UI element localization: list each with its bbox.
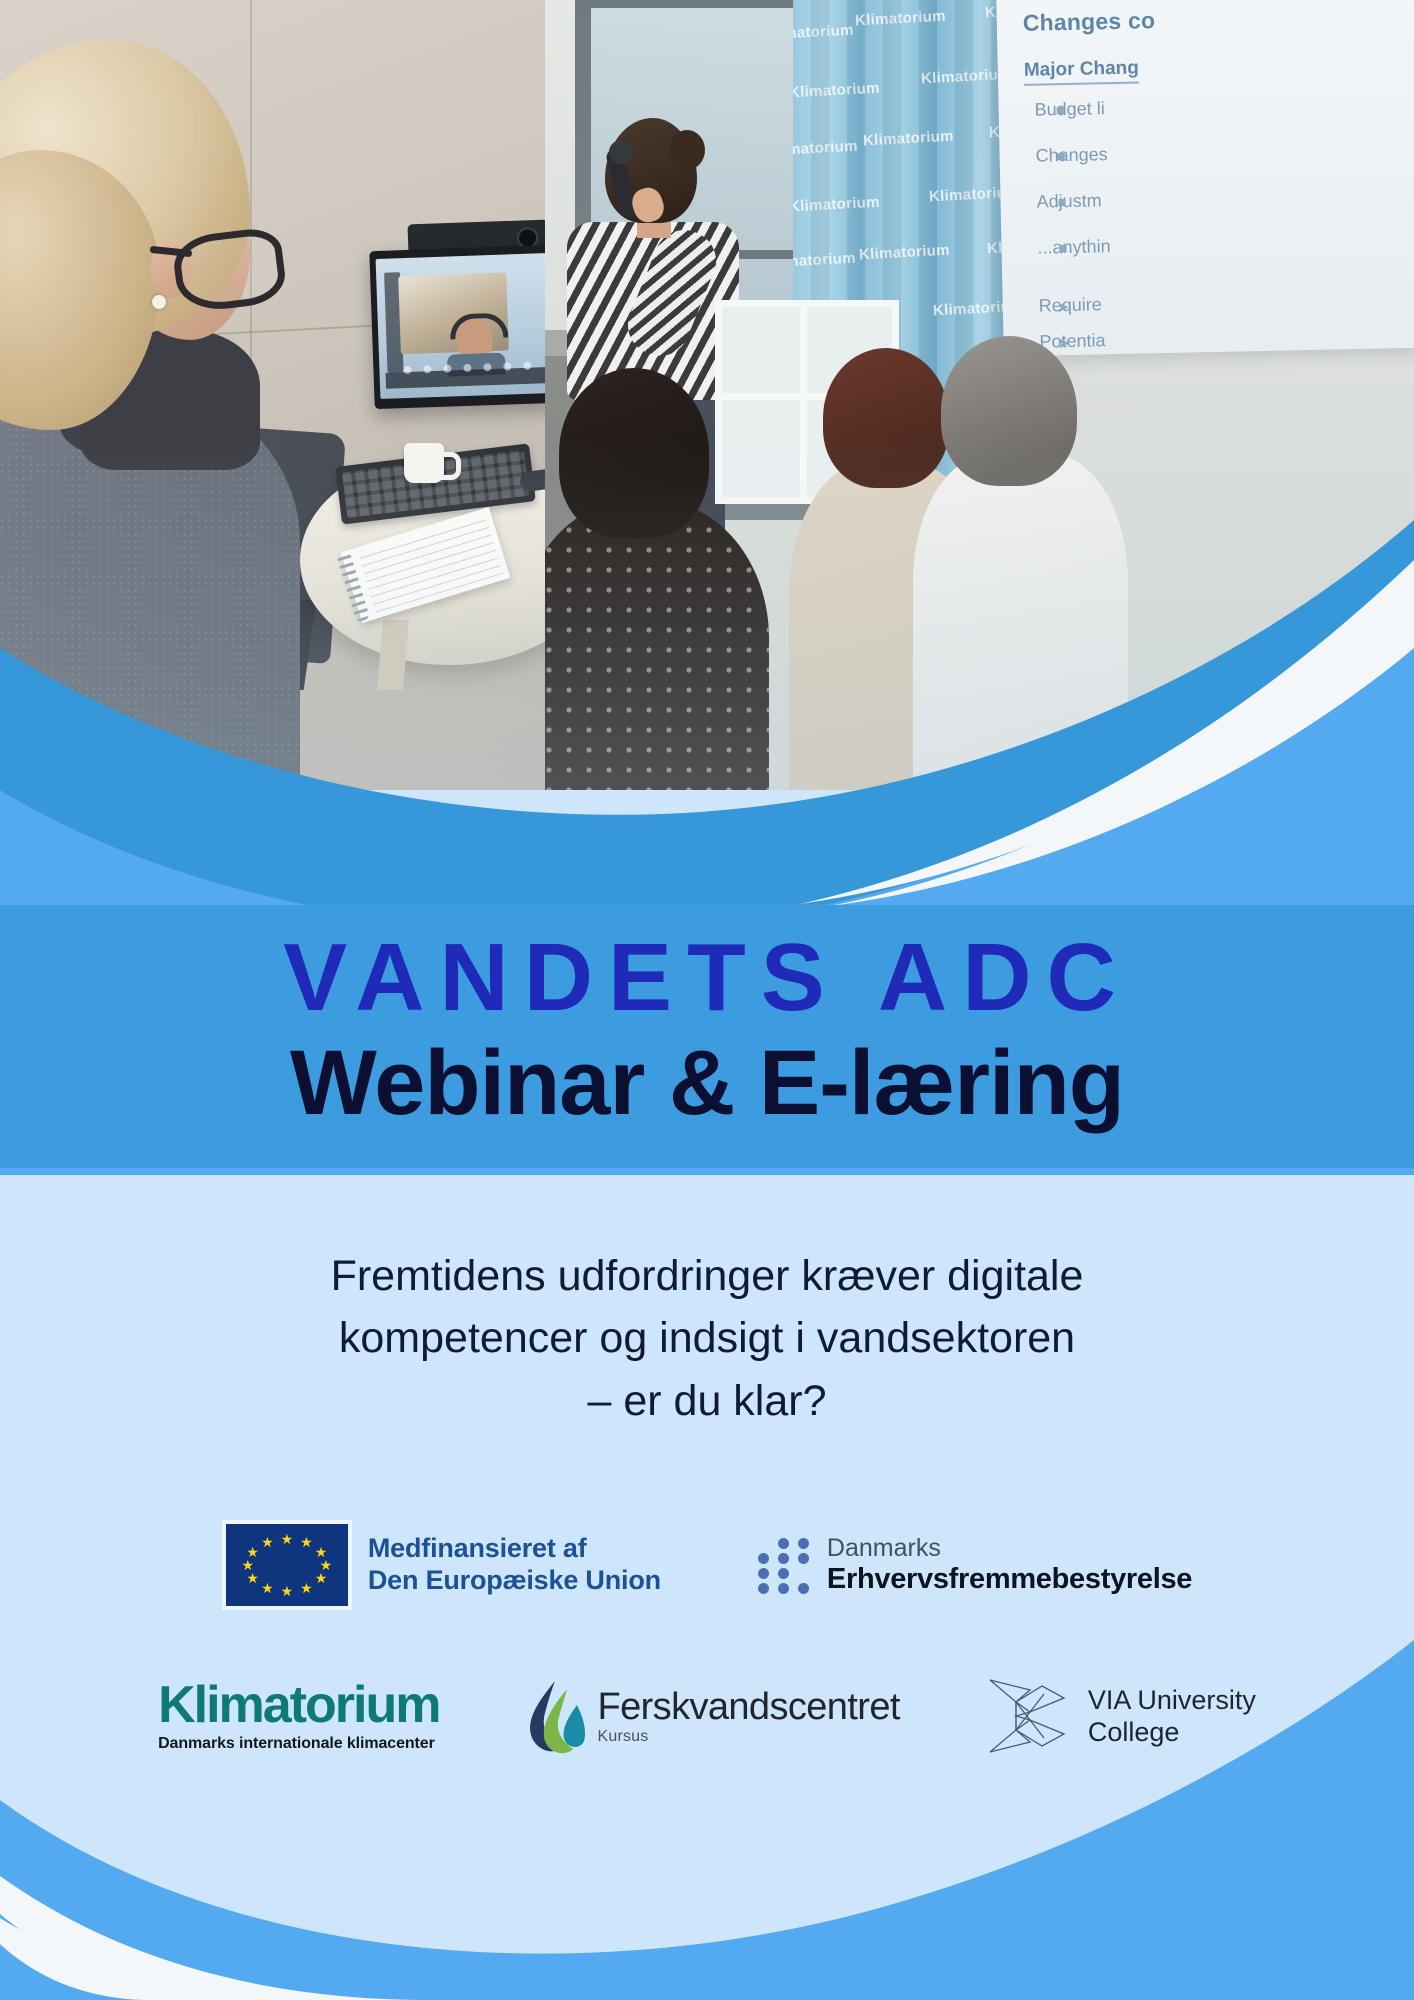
dk-dot (758, 1553, 769, 1564)
via-geometric-icon (986, 1672, 1068, 1762)
poster-title-primary: VANDETS ADC (0, 930, 1414, 1026)
eu-logo-text: Medfinansieret af Den Europæiske Union (368, 1533, 661, 1597)
via-logo-text: VIA University College (1088, 1685, 1256, 1749)
klimatorium-wordmark: Klimatorium (158, 1681, 439, 1731)
dk-dot (778, 1583, 789, 1594)
ferskvandscentret-subtitle: Kursus (597, 1728, 899, 1746)
ferskvandscentret-wordmark: Ferskvandscentret (597, 1688, 899, 1726)
eu-star-icon: ★ (281, 1584, 294, 1598)
header-photo-collage: Klimatorium Klimatorium Klimatorium Klim… (0, 0, 1414, 790)
dk-dot (758, 1568, 769, 1579)
eu-star-icon: ★ (261, 1535, 274, 1549)
klimatorium-tagline: Danmarks internationale klimacenter (158, 1735, 439, 1753)
subtitle-line-3: – er du klar? (150, 1370, 1264, 1432)
eu-star-icon: ★ (246, 1545, 259, 1559)
eu-logo-line-1: Medfinansieret af (368, 1533, 661, 1565)
logo-danmarks-erhvervsfremmebestyrelse: Danmarks Erhvervsfremmebestyrelse (757, 1534, 1192, 1596)
dk-logo-line-2: Erhvervsfremmebestyrelse (827, 1563, 1192, 1596)
subtitle-line-1: Fremtidens udfordringer kræver digitale (150, 1245, 1264, 1307)
eu-star-icon: ★ (315, 1571, 328, 1585)
dk-dot (778, 1553, 789, 1564)
poster-root: Klimatorium Klimatorium Klimatorium Klim… (0, 0, 1414, 2000)
logo-ferskvandscentret: Ferskvandscentret Kursus (525, 1679, 899, 1755)
wave-bottom-white-sliver (0, 1918, 340, 2000)
eu-star-icon: ★ (246, 1571, 259, 1585)
subtitle-line-2: kompetencer og indsigt i vandsektoren (150, 1307, 1264, 1369)
logo-row-funders: ★ ★ ★ ★ ★ ★ ★ ★ ★ ★ ★ ★ Medfinansieret a… (0, 1520, 1414, 1610)
dk-dot (798, 1553, 809, 1564)
logo-klimatorium: Klimatorium Danmarks internationale klim… (158, 1681, 439, 1753)
logo-european-union: ★ ★ ★ ★ ★ ★ ★ ★ ★ ★ ★ ★ Medfinansieret a… (222, 1520, 661, 1610)
dk-dot (798, 1538, 809, 1549)
eu-star-icon: ★ (281, 1532, 294, 1546)
eu-star-icon: ★ (300, 1535, 313, 1549)
logo-via-university-college: VIA University College (986, 1672, 1256, 1762)
dk-dot-grid-icon (757, 1538, 809, 1592)
dk-logo-line-1: Danmarks (827, 1534, 1192, 1563)
eu-star-icon: ★ (261, 1581, 274, 1595)
dk-dot (778, 1568, 789, 1579)
eu-logo-line-2: Den Europæiske Union (368, 1565, 661, 1597)
via-logo-line-2: College (1088, 1717, 1256, 1749)
logo-row-partners: Klimatorium Danmarks internationale klim… (0, 1672, 1414, 1762)
dk-dot (778, 1538, 789, 1549)
dk-dot (758, 1583, 769, 1594)
wave-bottom-white-band (0, 1876, 430, 2000)
eu-flag-icon: ★ ★ ★ ★ ★ ★ ★ ★ ★ ★ ★ ★ (222, 1520, 352, 1610)
photo-fade-overlay (0, 0, 1414, 790)
poster-subtitle: Fremtidens udfordringer kræver digitale … (150, 1245, 1264, 1432)
via-logo-line-1: VIA University (1088, 1685, 1256, 1717)
eu-star-icon: ★ (300, 1581, 313, 1595)
dk-dot (798, 1583, 809, 1594)
poster-title-secondary: Webinar & E-læring (0, 1035, 1414, 1132)
dk-logo-text: Danmarks Erhvervsfremmebestyrelse (827, 1534, 1192, 1596)
ferskvandscentret-text: Ferskvandscentret Kursus (597, 1688, 899, 1746)
eu-star-icon: ★ (242, 1558, 255, 1572)
logo-section: ★ ★ ★ ★ ★ ★ ★ ★ ★ ★ ★ ★ Medfinansieret a… (0, 1520, 1414, 1762)
water-droplet-leaf-icon (525, 1679, 587, 1755)
